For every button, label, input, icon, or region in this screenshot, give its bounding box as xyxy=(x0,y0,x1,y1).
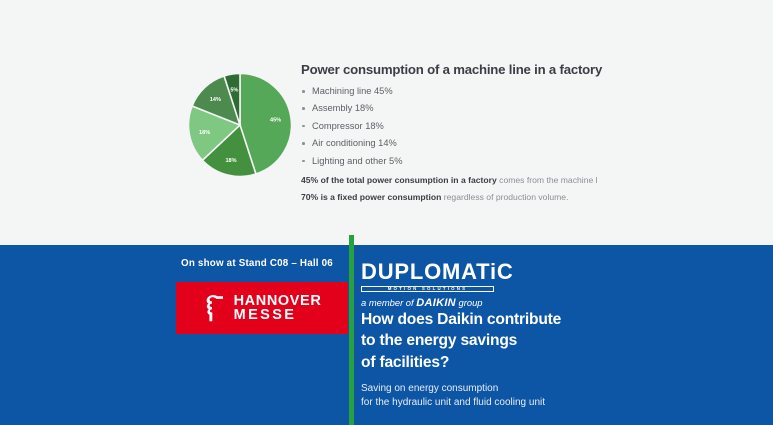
note-line-1: 45% of the total power consumption in a … xyxy=(301,175,773,185)
note-line-2: 70% is a fixed power consumption regardl… xyxy=(301,192,773,202)
hannover-line: HANNOVER xyxy=(234,294,322,309)
list-item: Air conditioning 14% xyxy=(301,138,773,148)
list-item: Lighting and other 5% xyxy=(301,156,773,166)
power-consumption-pie-chart: 45%18%18%14%5% xyxy=(188,73,292,177)
note-1-emphasis: 45% of the total power consumption in a … xyxy=(301,175,497,185)
green-divider-bar xyxy=(349,235,354,425)
note-1-rest: comes from the machine l xyxy=(497,175,598,185)
list-item: Assembly 18% xyxy=(301,103,773,113)
pie-slice-label: 14% xyxy=(210,97,221,103)
banner-headline: How does Daikin contributeto the energy … xyxy=(361,309,661,373)
poster-canvas: 45%18%18%14%5% Power consumption of a ma… xyxy=(0,0,773,425)
pie-slice-label: 18% xyxy=(199,130,210,136)
pie-slice-label: 18% xyxy=(225,158,236,164)
member-post: group xyxy=(456,297,483,308)
pie-slice-label: 5% xyxy=(230,88,238,94)
infographic-text-block: Power consumption of a machine line in a… xyxy=(301,62,773,209)
hannover-messe-mark-icon xyxy=(203,293,225,323)
list-item: Compressor 18% xyxy=(301,121,773,131)
pie-slice-label: 45% xyxy=(270,118,281,124)
note-2-rest: regardless of production volume. xyxy=(441,192,568,202)
daikin-brand: DAIKIN xyxy=(416,297,456,309)
infographic-notes: 45% of the total power consumption in a … xyxy=(301,175,773,202)
infographic-section: 45%18%18%14%5% Power consumption of a ma… xyxy=(0,0,773,245)
infographic-title: Power consumption of a machine line in a… xyxy=(301,62,773,77)
duplomatic-wordmark: DUPLOMATiC xyxy=(361,261,621,283)
pie-svg: 45%18%18%14%5% xyxy=(188,73,292,177)
banner-subcopy: Saving on energy consumptionfor the hydr… xyxy=(361,382,681,410)
hannover-messe-logo: HANNOVER MESSE xyxy=(176,282,348,334)
member-pre: a member of xyxy=(361,297,416,308)
pie-legend-list: Machining line 45% Assembly 18% Compress… xyxy=(301,86,773,166)
messe-line: MESSE xyxy=(234,308,322,323)
hannover-messe-wordmark: HANNOVER MESSE xyxy=(234,294,322,323)
list-item: Machining line 45% xyxy=(301,86,773,96)
show-at-label: On show at Stand C08 – Hall 06 xyxy=(181,258,333,269)
duplomatic-tagline: MOTION SOLUTIONS xyxy=(388,287,468,291)
daikin-member-line: a member of DAIKIN group xyxy=(361,297,621,309)
duplomatic-logo-block: DUPLOMATiC MOTION SOLUTIONS a member of … xyxy=(361,261,621,309)
duplomatic-tagline-rule: MOTION SOLUTIONS xyxy=(361,286,494,292)
note-2-emphasis: 70% is a fixed power consumption xyxy=(301,192,441,202)
